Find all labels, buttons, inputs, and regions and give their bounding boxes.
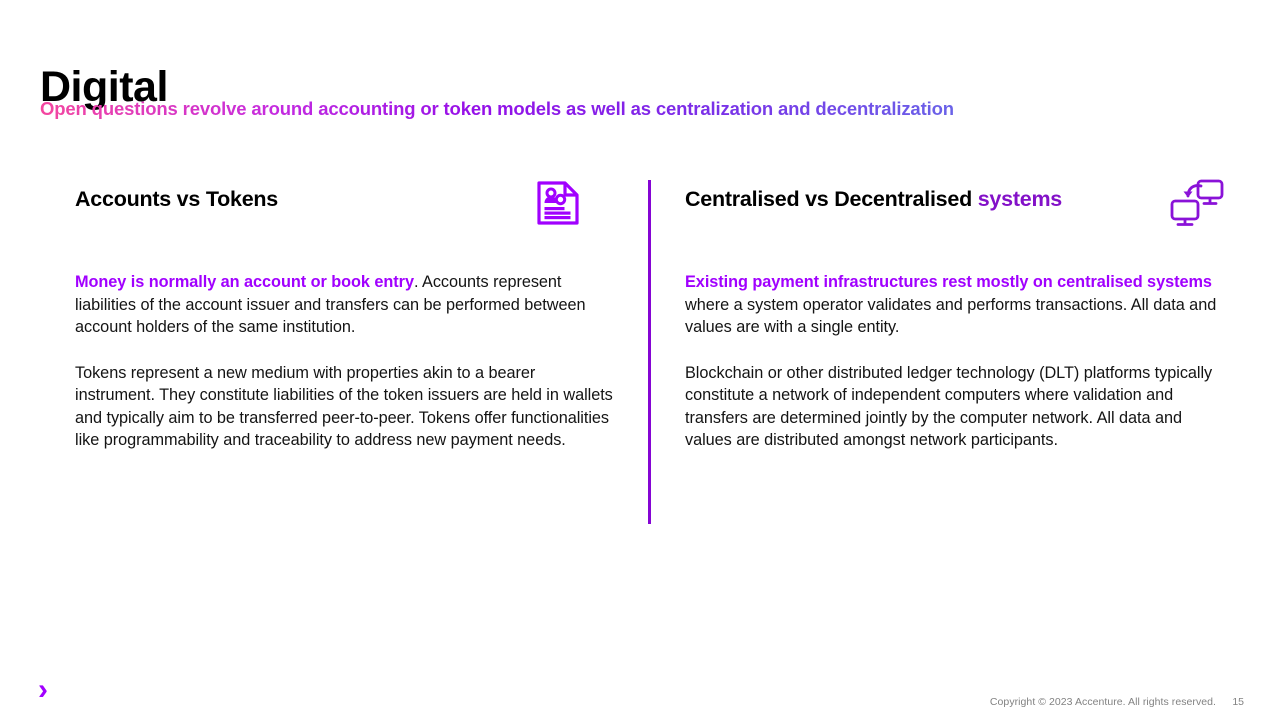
page-number: 15 <box>1232 696 1244 708</box>
paragraph-right-1-lead: Existing payment infrastructures rest mo… <box>685 273 1212 291</box>
card-title-left-plain: Accounts vs Tokens <box>75 187 278 211</box>
distributed-monitors-icon <box>1169 178 1225 235</box>
column-divider <box>648 180 651 524</box>
card-header-right: Centralised vs Decentralised systems <box>685 176 1225 238</box>
paragraph-left-2: Tokens represent a new medium with prope… <box>75 362 615 452</box>
card-header-left: Accounts vs Tokens <box>75 176 615 238</box>
column-centralised-vs-decentralised: Centralised vs Decentralised systems Exi… <box>685 176 1225 452</box>
footer-copyright: Copyright © 2023 Accenture. All rights r… <box>990 696 1216 708</box>
paragraph-left-1: Money is normally an account or book ent… <box>75 271 615 339</box>
card-title-left: Accounts vs Tokens <box>75 187 278 212</box>
document-person-icon <box>536 180 580 231</box>
card-title-right: Centralised vs Decentralised systems <box>685 187 1062 212</box>
content-columns: Accounts vs Tokens Money is normally an … <box>0 176 1280 546</box>
column-accounts-vs-tokens: Accounts vs Tokens Money is normally an … <box>75 176 615 452</box>
card-title-right-plain: Centralised vs Decentralised <box>685 187 978 211</box>
accenture-logo: › <box>38 678 64 702</box>
paragraph-right-2-rest: Blockchain or other distributed ledger t… <box>685 364 1212 450</box>
paragraph-left-1-lead: Money is normally an account or book ent… <box>75 273 414 291</box>
page-subtitle: Open questions revolve around accounting… <box>40 98 954 120</box>
slide-root: Digital Open questions revolve around ac… <box>0 0 1280 720</box>
paragraph-right-1: Existing payment infrastructures rest mo… <box>685 271 1225 339</box>
paragraph-right-2: Blockchain or other distributed ledger t… <box>685 362 1225 452</box>
paragraph-right-1-rest: where a system operator validates and pe… <box>685 296 1216 337</box>
card-title-right-accent: systems <box>978 187 1062 211</box>
paragraph-left-2-rest: Tokens represent a new medium with prope… <box>75 364 613 450</box>
